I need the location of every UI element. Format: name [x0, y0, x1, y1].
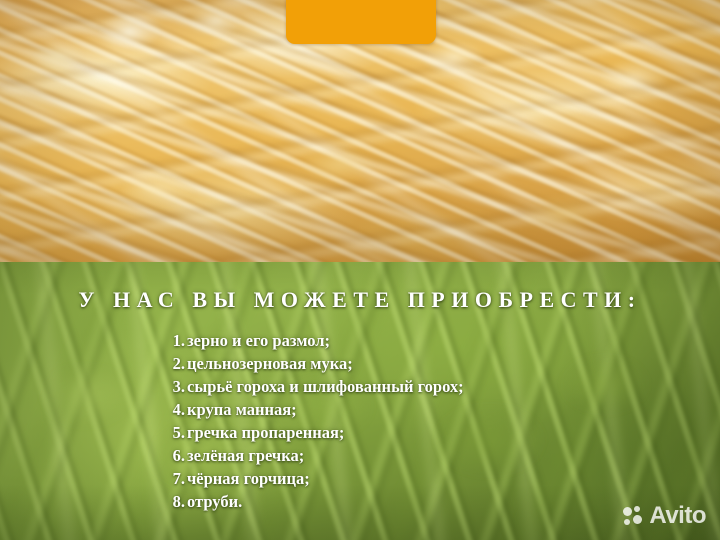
- list-item-label: отруби.: [187, 492, 242, 512]
- list-item-label: крупа манная;: [187, 400, 297, 420]
- avito-watermark-label: Avito: [649, 504, 706, 528]
- offer-list: 1. зерно и его размол; 2. цельнозерновая…: [168, 331, 464, 515]
- list-item-label: чёрная горчица;: [187, 469, 310, 489]
- list-item-number: 8.: [168, 492, 185, 512]
- list-item: 1. зерно и его размол;: [168, 331, 464, 354]
- list-item-label: цельнозерновая мука;: [187, 354, 353, 374]
- list-item-number: 3.: [168, 377, 185, 397]
- list-item: 3. сырьё гороха и шлифованный горох;: [168, 377, 464, 400]
- headline-we-offer: У НАС ВЫ МОЖЕТЕ ПРИОБРЕСТИ:: [0, 287, 720, 313]
- list-item: 6. зелёная гречка;: [168, 446, 464, 469]
- avito-logo-icon: [623, 506, 644, 527]
- list-item: 4. крупа манная;: [168, 400, 464, 423]
- list-item-number: 5.: [168, 423, 185, 443]
- avito-watermark: Avito: [623, 504, 706, 528]
- list-item-number: 2.: [168, 354, 185, 374]
- poster-advertisement: У НАС ВЫ МОЖЕТЕ ПРИОБРЕСТИ: 1. зерно и е…: [0, 0, 720, 540]
- list-item: 5. гречка пропаренная;: [168, 423, 464, 446]
- list-item-number: 6.: [168, 446, 185, 466]
- list-item: 2. цельнозерновая мука;: [168, 354, 464, 377]
- list-item-number: 4.: [168, 400, 185, 420]
- list-item: 7. чёрная горчица;: [168, 469, 464, 492]
- list-item-number: 1.: [168, 331, 185, 351]
- list-item-label: сырьё гороха и шлифованный горох;: [187, 377, 464, 397]
- list-item: 8. отруби.: [168, 492, 464, 515]
- list-item-label: зерно и его размол;: [187, 331, 330, 351]
- poster-content: У НАС ВЫ МОЖЕТЕ ПРИОБРЕСТИ: 1. зерно и е…: [0, 0, 720, 540]
- list-item-label: зелёная гречка;: [187, 446, 304, 466]
- list-item-number: 7.: [168, 469, 185, 489]
- list-item-label: гречка пропаренная;: [187, 423, 344, 443]
